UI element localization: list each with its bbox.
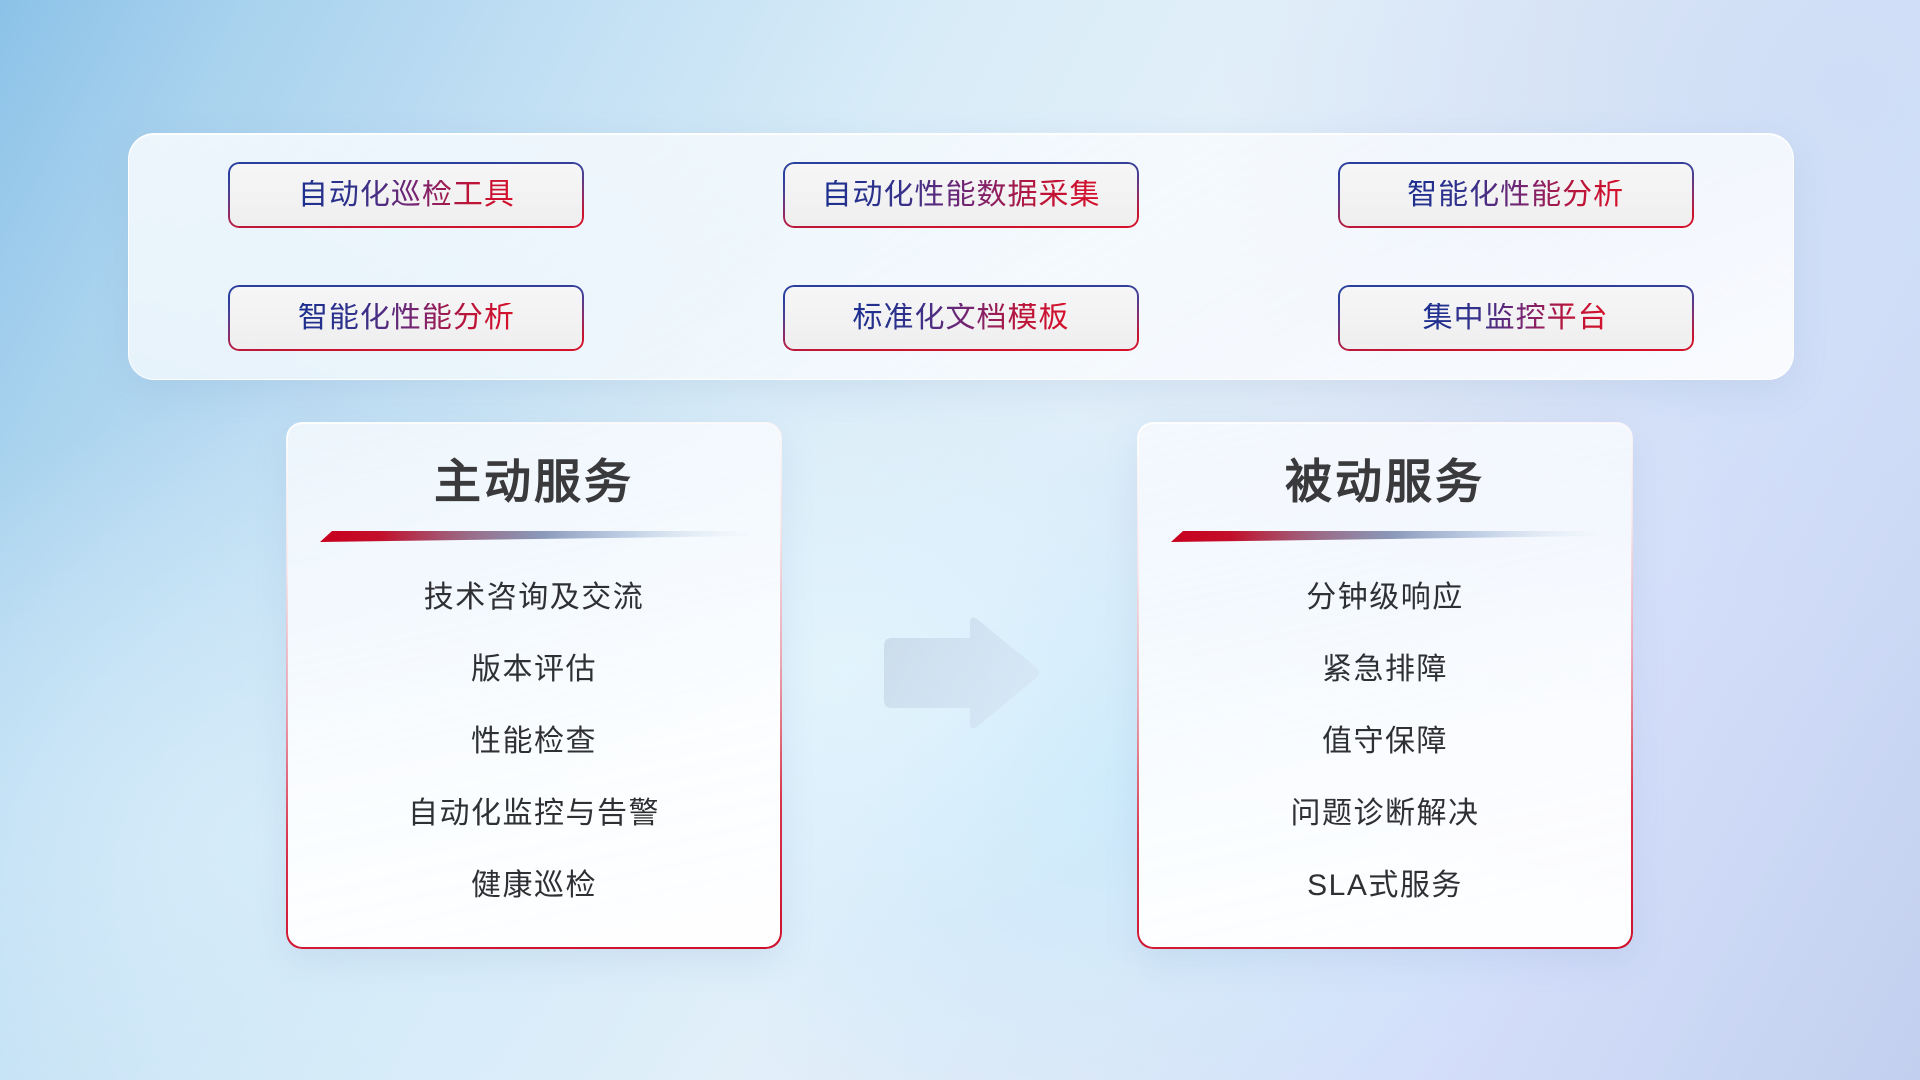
service-item: 自动化监控与告警	[288, 799, 780, 829]
service-item-list: 技术咨询及交流 版本评估 性能检查 自动化监控与告警 健康巡检	[288, 543, 780, 901]
service-card-reactive: 被动服务 分钟级响应 紧急排障	[1138, 423, 1632, 948]
service-item: SLA式服务	[1139, 871, 1631, 901]
title-divider	[320, 529, 748, 543]
slide-canvas: 自动化巡检工具 自动化性能数据采集 智能化性能分析 智能化性能分析 标准化文档模…	[0, 0, 1920, 1080]
title-divider	[1171, 529, 1599, 543]
capability-pill-label: 自动化巡检工具	[298, 180, 515, 210]
capability-pill[interactable]: 自动化性能数据采集	[783, 162, 1139, 228]
service-card-title: 被动服务	[1139, 424, 1631, 506]
capability-pill-label: 集中监控平台	[1423, 303, 1609, 333]
capability-pill[interactable]: 自动化巡检工具	[228, 162, 584, 228]
capability-pill[interactable]: 智能化性能分析	[1338, 162, 1694, 228]
capability-pills-panel: 自动化巡检工具 自动化性能数据采集 智能化性能分析 智能化性能分析 标准化文档模…	[128, 133, 1794, 380]
capability-pill[interactable]: 集中监控平台	[1338, 285, 1694, 351]
service-item: 值守保障	[1139, 727, 1631, 757]
arrow-right-icon	[874, 614, 1042, 736]
service-card-proactive: 主动服务 技术咨询及交流 版本评估	[287, 423, 781, 948]
service-item: 版本评估	[288, 655, 780, 685]
capability-pill-grid: 自动化巡检工具 自动化性能数据采集 智能化性能分析 智能化性能分析 标准化文档模…	[129, 134, 1793, 379]
capability-pill-label: 标准化文档模板	[852, 303, 1069, 333]
capability-pill[interactable]: 标准化文档模板	[783, 285, 1139, 351]
service-item: 紧急排障	[1139, 655, 1631, 685]
capability-pill-label: 智能化性能分析	[1407, 180, 1624, 210]
capability-pill-label: 自动化性能数据采集	[821, 180, 1100, 210]
capability-pill-label: 智能化性能分析	[298, 303, 515, 333]
service-item-list: 分钟级响应 紧急排障 值守保障 问题诊断解决 SLA式服务	[1139, 543, 1631, 901]
service-item: 分钟级响应	[1139, 583, 1631, 613]
service-card-title: 主动服务	[288, 424, 780, 506]
service-item: 性能检查	[288, 727, 780, 757]
service-item: 问题诊断解决	[1139, 799, 1631, 829]
service-item: 健康巡检	[288, 871, 780, 901]
service-item: 技术咨询及交流	[288, 583, 780, 613]
capability-pill[interactable]: 智能化性能分析	[228, 285, 584, 351]
